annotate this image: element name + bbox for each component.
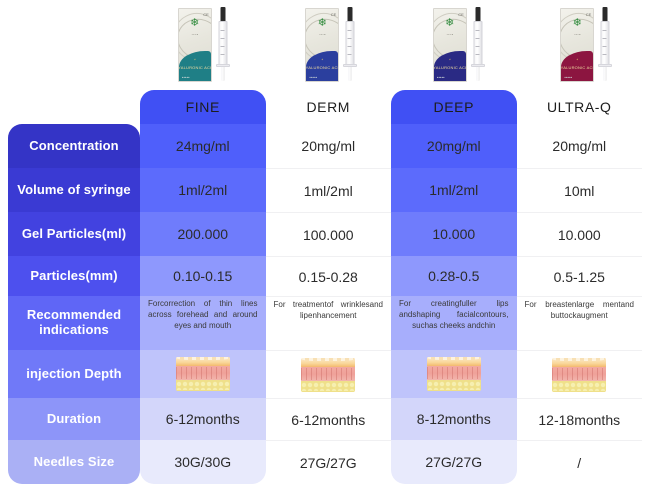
brand-wordmark: 𝅈𝅗𝅖𝅘 bbox=[319, 31, 326, 36]
skin-layers-icon bbox=[427, 357, 481, 391]
table-row: Concentration 24mg/ml 20mg/ml 20mg/ml 20… bbox=[8, 124, 642, 168]
row-label-needles-size: Needles Size bbox=[8, 440, 140, 484]
syringe-barrel bbox=[346, 21, 355, 65]
column-header-derm[interactable]: DERM bbox=[266, 90, 392, 124]
box-band-logo: 𝅅 bbox=[449, 56, 451, 63]
cell-duration-derm: 6-12months bbox=[266, 398, 392, 440]
cell-duration-fine: 6-12months bbox=[140, 398, 266, 440]
syringe-icon-derm bbox=[343, 7, 357, 83]
skin-layers-icon bbox=[176, 357, 230, 391]
syringe-tip bbox=[349, 67, 352, 81]
column-header-deep[interactable]: DEEP bbox=[391, 90, 517, 124]
cell-injection-depth-ultra-q bbox=[517, 350, 643, 398]
product-box-ultra-q: ❄ 𝅈𝅗𝅖𝅘 CE 𝅅 HYALURONIC ACID ●●●●● bbox=[560, 8, 594, 82]
cell-volume-ultra-q: 10ml bbox=[517, 168, 643, 212]
skin-layers-icon bbox=[552, 358, 606, 392]
comparison-table: FINE DERM DEEP ULTRA-Q Concentration 24m… bbox=[8, 90, 642, 484]
cell-injection-depth-deep bbox=[391, 350, 517, 398]
product-box-fine: ❄ 𝅈𝅗𝅖𝅘 CE 𝅅 HYALURONIC ACID ●●●●● bbox=[178, 8, 212, 82]
table-header-row: FINE DERM DEEP ULTRA-Q bbox=[8, 90, 642, 124]
cell-concentration-derm: 20mg/ml bbox=[266, 124, 392, 168]
box-band-name: HYALURONIC ACID bbox=[305, 65, 339, 70]
brand-wordmark: 𝅈𝅗𝅖𝅘 bbox=[191, 31, 198, 36]
syringe-icon-fine bbox=[216, 7, 230, 83]
comparison-chart-page: ❄ 𝅈𝅗𝅖𝅘 CE 𝅅 HYALURONIC ACID ●●●●● bbox=[0, 0, 650, 500]
cell-volume-fine: 1ml/2ml bbox=[140, 168, 266, 212]
skin-layers-icon bbox=[301, 358, 355, 392]
product-image-fine: ❄ 𝅈𝅗𝅖𝅘 CE 𝅅 HYALURONIC ACID ●●●●● bbox=[140, 0, 268, 90]
cell-indications-fine: Forcorrection of thin lines across foreh… bbox=[140, 296, 266, 350]
cell-needles-size-ultra-q: / bbox=[517, 440, 643, 484]
syringe-icon-ultra-q bbox=[598, 7, 612, 83]
ce-mark-label: CE bbox=[458, 12, 464, 17]
syringe-barrel bbox=[601, 21, 610, 65]
product-box-derm: ❄ 𝅈𝅗𝅖𝅘 CE 𝅅 HYALURONIC ACID ●●●●● bbox=[305, 8, 339, 82]
cell-particles-mm-deep: 0.28-0.5 bbox=[391, 256, 517, 296]
leaf-logo-icon: ❄ bbox=[444, 18, 455, 29]
cell-needles-size-derm: 27G/27G bbox=[266, 440, 392, 484]
box-band-logo: 𝅅 bbox=[194, 56, 196, 63]
box-band-logo: 𝅅 bbox=[321, 56, 323, 63]
syringe-tip bbox=[476, 67, 479, 81]
box-band-sub: ●●●●● bbox=[309, 76, 317, 79]
table-row: Particles(mm) 0.10-0.15 0.15-0.28 0.28-0… bbox=[8, 256, 642, 296]
box-band-name: HYALURONIC ACID bbox=[433, 65, 467, 70]
row-label-particles-mm: Particles(mm) bbox=[8, 256, 140, 296]
ce-mark-label: CE bbox=[586, 12, 592, 17]
cell-needles-size-deep: 27G/27G bbox=[391, 440, 517, 484]
row-label-recommended-indications: Recommended indications bbox=[8, 296, 140, 350]
table-row: Recommended indications Forcorrection of… bbox=[8, 296, 642, 350]
box-band-name: HYALURONIC ACID bbox=[178, 65, 212, 70]
cell-indications-derm: For treatmentof wrinklesand lipenhanceme… bbox=[266, 296, 392, 350]
product-image-strip: ❄ 𝅈𝅗𝅖𝅘 CE 𝅅 HYALURONIC ACID ●●●●● bbox=[140, 0, 650, 90]
table-row: Gel Particles(ml) 200.000 100.000 10.000… bbox=[8, 212, 642, 256]
brand-wordmark: 𝅈𝅗𝅖𝅘 bbox=[446, 31, 453, 36]
leaf-logo-icon: ❄ bbox=[317, 18, 328, 29]
row-label-injection-depth: injection Depth bbox=[8, 350, 140, 398]
ce-mark-label: CE bbox=[331, 12, 337, 17]
cell-injection-depth-fine bbox=[140, 350, 266, 398]
cell-indications-deep: For creatingfuller lips andshaping facia… bbox=[391, 296, 517, 350]
cell-gel-particles-derm: 100.000 bbox=[266, 212, 392, 256]
row-label-gel-particles: Gel Particles(ml) bbox=[8, 212, 140, 256]
cell-concentration-ultra-q: 20mg/ml bbox=[517, 124, 643, 168]
cell-gel-particles-deep: 10.000 bbox=[391, 212, 517, 256]
column-header-ultra-q[interactable]: ULTRA-Q bbox=[517, 90, 643, 124]
leaf-logo-icon: ❄ bbox=[189, 18, 200, 29]
product-box-deep: ❄ 𝅈𝅗𝅖𝅘 CE 𝅅 HYALURONIC ACID ●●●●● bbox=[433, 8, 467, 82]
cell-indications-ultra-q: For breastenlarge mentand buttockaugment bbox=[517, 296, 643, 350]
row-label-volume-of-syringe: Volume of syringe bbox=[8, 168, 140, 212]
product-image-deep: ❄ 𝅈𝅗𝅖𝅘 CE 𝅅 HYALURONIC ACID ●●●●● bbox=[395, 0, 523, 90]
table-row: Volume of syringe 1ml/2ml 1ml/2ml 1ml/2m… bbox=[8, 168, 642, 212]
header-corner-spacer bbox=[8, 90, 140, 124]
box-band-logo: 𝅅 bbox=[576, 56, 578, 63]
cell-particles-mm-ultra-q: 0.5-1.25 bbox=[517, 256, 643, 296]
cell-volume-deep: 1ml/2ml bbox=[391, 168, 517, 212]
syringe-barrel bbox=[218, 21, 227, 65]
product-image-derm: ❄ 𝅈𝅗𝅖𝅘 CE 𝅅 HYALURONIC ACID ●●●●● bbox=[268, 0, 396, 90]
box-band-sub: ●●●●● bbox=[437, 76, 445, 79]
cell-concentration-fine: 24mg/ml bbox=[140, 124, 266, 168]
table-row: injection Depth bbox=[8, 350, 642, 398]
box-band-sub: ●●●●● bbox=[182, 76, 190, 79]
leaf-logo-icon: ❄ bbox=[572, 18, 583, 29]
syringe-barrel bbox=[473, 21, 482, 65]
row-label-duration: Duration bbox=[8, 398, 140, 440]
syringe-tip bbox=[221, 67, 224, 81]
table-row: Duration 6-12months 6-12months 8-12month… bbox=[8, 398, 642, 440]
cell-volume-derm: 1ml/2ml bbox=[266, 168, 392, 212]
table-row: Needles Size 30G/30G 27G/27G 27G/27G / bbox=[8, 440, 642, 484]
brand-wordmark: 𝅈𝅗𝅖𝅘 bbox=[574, 31, 581, 36]
syringe-icon-deep bbox=[471, 7, 485, 83]
cell-duration-ultra-q: 12-18months bbox=[517, 398, 643, 440]
cell-injection-depth-derm bbox=[266, 350, 392, 398]
box-band-name: HYALURONIC ACID bbox=[560, 65, 594, 70]
cell-gel-particles-fine: 200.000 bbox=[140, 212, 266, 256]
cell-duration-deep: 8-12months bbox=[391, 398, 517, 440]
cell-concentration-deep: 20mg/ml bbox=[391, 124, 517, 168]
product-image-ultra-q: ❄ 𝅈𝅗𝅖𝅘 CE 𝅅 HYALURONIC ACID ●●●●● bbox=[523, 0, 650, 90]
cell-gel-particles-ultra-q: 10.000 bbox=[517, 212, 643, 256]
box-band-sub: ●●●●● bbox=[564, 76, 572, 79]
row-label-concentration: Concentration bbox=[8, 124, 140, 168]
cell-particles-mm-derm: 0.15-0.28 bbox=[266, 256, 392, 296]
cell-needles-size-fine: 30G/30G bbox=[140, 440, 266, 484]
ce-mark-label: CE bbox=[203, 12, 209, 17]
syringe-tip bbox=[604, 67, 607, 81]
cell-particles-mm-fine: 0.10-0.15 bbox=[140, 256, 266, 296]
column-header-fine[interactable]: FINE bbox=[140, 90, 266, 124]
